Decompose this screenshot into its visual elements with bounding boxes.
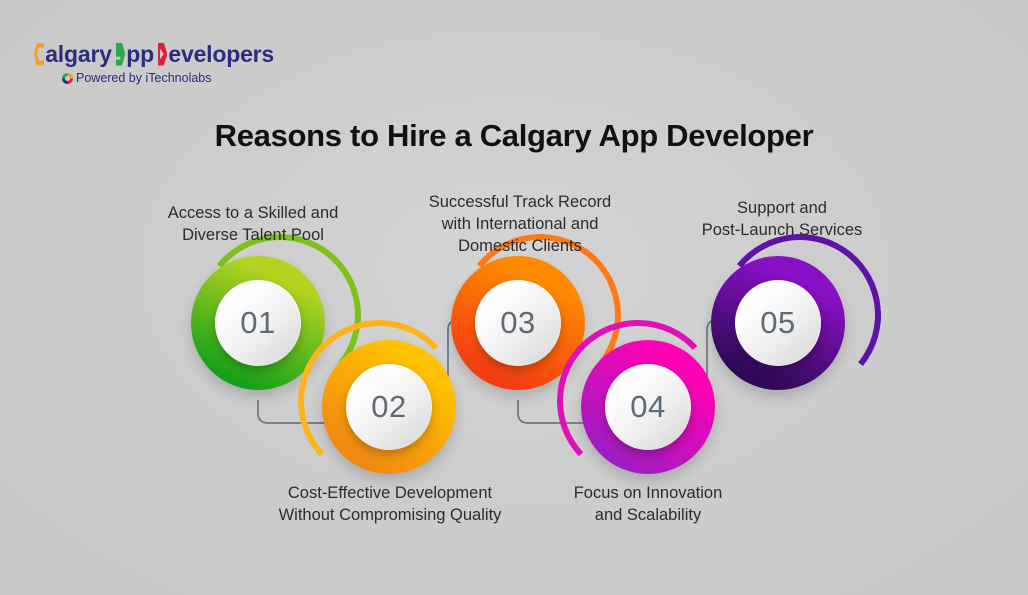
step-inner-circle-03: 03 bbox=[475, 280, 561, 366]
page-title: Reasons to Hire a Calgary App Developer bbox=[0, 118, 1028, 154]
step-label-03: Successful Track Record with Internation… bbox=[406, 191, 634, 257]
step-label-02: Cost-Effective Development Without Compr… bbox=[251, 482, 529, 526]
logo-a-hexagon-icon bbox=[116, 43, 126, 66]
logo-tagline-text: Powered by iTechnolabs bbox=[76, 71, 212, 85]
step-label-05: Support and Post-Launch Services bbox=[668, 197, 896, 241]
step-label-04: Focus on Innovation and Scalability bbox=[534, 482, 762, 526]
brand-logo: algaryppevelopers Powered by iTechnolabs bbox=[34, 40, 274, 88]
step-number-02: 02 bbox=[371, 391, 406, 424]
step-number-04: 04 bbox=[630, 391, 665, 424]
step-number-05: 05 bbox=[760, 307, 795, 340]
step-node-04[interactable]: 04 bbox=[581, 340, 715, 474]
logo-word-calgary: algary bbox=[45, 40, 112, 68]
logo-d-hexagon-icon bbox=[158, 43, 168, 66]
step-inner-circle-02: 02 bbox=[346, 364, 432, 450]
step-label-01: Access to a Skilled and Diverse Talent P… bbox=[139, 202, 367, 246]
step-inner-circle-04: 04 bbox=[605, 364, 691, 450]
itechnolabs-ring-icon bbox=[62, 73, 73, 84]
step-inner-circle-05: 05 bbox=[735, 280, 821, 366]
logo-wordmark: algaryppevelopers bbox=[34, 40, 274, 68]
infographic-canvas: algaryppevelopers Powered by iTechnolabs… bbox=[0, 0, 1028, 595]
step-node-02[interactable]: 02 bbox=[322, 340, 456, 474]
step-inner-circle-01: 01 bbox=[215, 280, 301, 366]
step-number-01: 01 bbox=[240, 307, 275, 340]
step-node-05[interactable]: 05 bbox=[711, 256, 845, 390]
step-number-03: 03 bbox=[500, 307, 535, 340]
logo-tagline: Powered by iTechnolabs bbox=[62, 71, 274, 85]
logo-c-hexagon-icon bbox=[34, 43, 44, 66]
logo-word-developers: evelopers bbox=[168, 40, 274, 68]
logo-word-app: pp bbox=[126, 40, 154, 68]
